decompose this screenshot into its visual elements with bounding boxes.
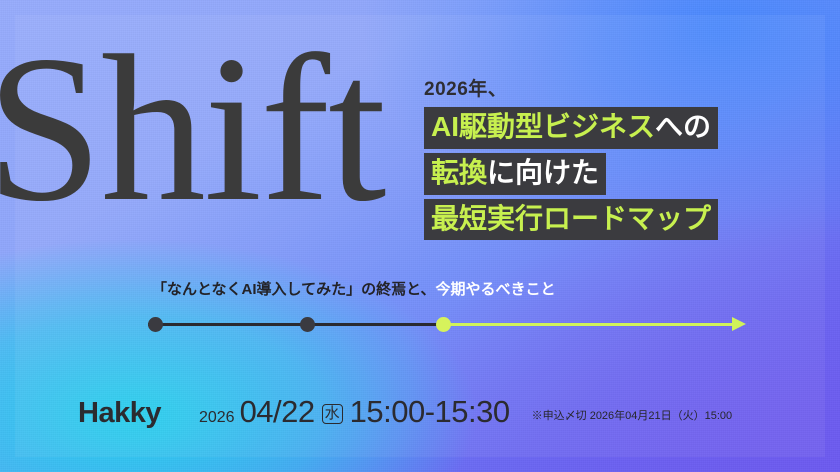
headline-plain-2: に向けた [487, 157, 599, 188]
timeline-dot-2 [300, 317, 315, 332]
headline-accent-2: 転換 [431, 157, 487, 188]
headline-accent-1: AI駆動型ビジネス [431, 111, 655, 142]
subtitle: 「なんとなくAI導入してみた」の終焉と、今期やるべきこと [152, 278, 556, 299]
timeline-track-past [148, 323, 446, 326]
timeline-track-future [440, 323, 738, 326]
timeline-dot-1 [148, 317, 163, 332]
shift-wordmark: Shift [0, 24, 384, 234]
event-month-day: 04/22 [240, 394, 315, 430]
headline-bar-1: AI駆動型ビジネスへの [424, 107, 718, 149]
hakky-logo: Hakky [78, 397, 161, 430]
event-time-range: 15:00-15:30 [350, 394, 510, 430]
subtitle-light-part: 今期やるべきこと [436, 281, 556, 298]
headline-line-1: AI駆動型ビジネスへの [424, 107, 824, 149]
event-day-of-week-badge: 水 [322, 404, 343, 424]
footer-bar: Hakky 2026 04/22 水 15:00-15:30 ※申込〆切 202… [78, 394, 732, 430]
event-datetime: 2026 04/22 水 15:00-15:30 [199, 394, 510, 430]
application-deadline: ※申込〆切 2026年04月21日（火）15:00 [532, 407, 733, 423]
headline-plain-1: への [655, 111, 711, 142]
arrow-right-icon [732, 317, 746, 331]
promo-slide: Shift 2026年、 AI駆動型ビジネスへの 転換に向けた 最短実行ロードマ… [0, 0, 840, 472]
headline-year: 2026年、 [424, 74, 824, 101]
headline-bar-2: 転換に向けた [424, 153, 606, 195]
timeline-dot-3-current [436, 317, 451, 332]
headline-line-2: 転換に向けた [424, 153, 824, 195]
subtitle-dark-part: 「なんとなくAI導入してみた」の終焉と、 [152, 281, 436, 298]
headline-bar-3: 最短実行ロードマップ [424, 199, 718, 241]
headline-accent-3: 最短実行ロードマップ [431, 203, 711, 234]
headline-block: 2026年、 AI駆動型ビジネスへの 転換に向けた 最短実行ロードマップ [424, 74, 824, 244]
timeline-graphic [140, 313, 760, 335]
event-year: 2026 [199, 409, 235, 427]
headline-line-3: 最短実行ロードマップ [424, 199, 824, 241]
